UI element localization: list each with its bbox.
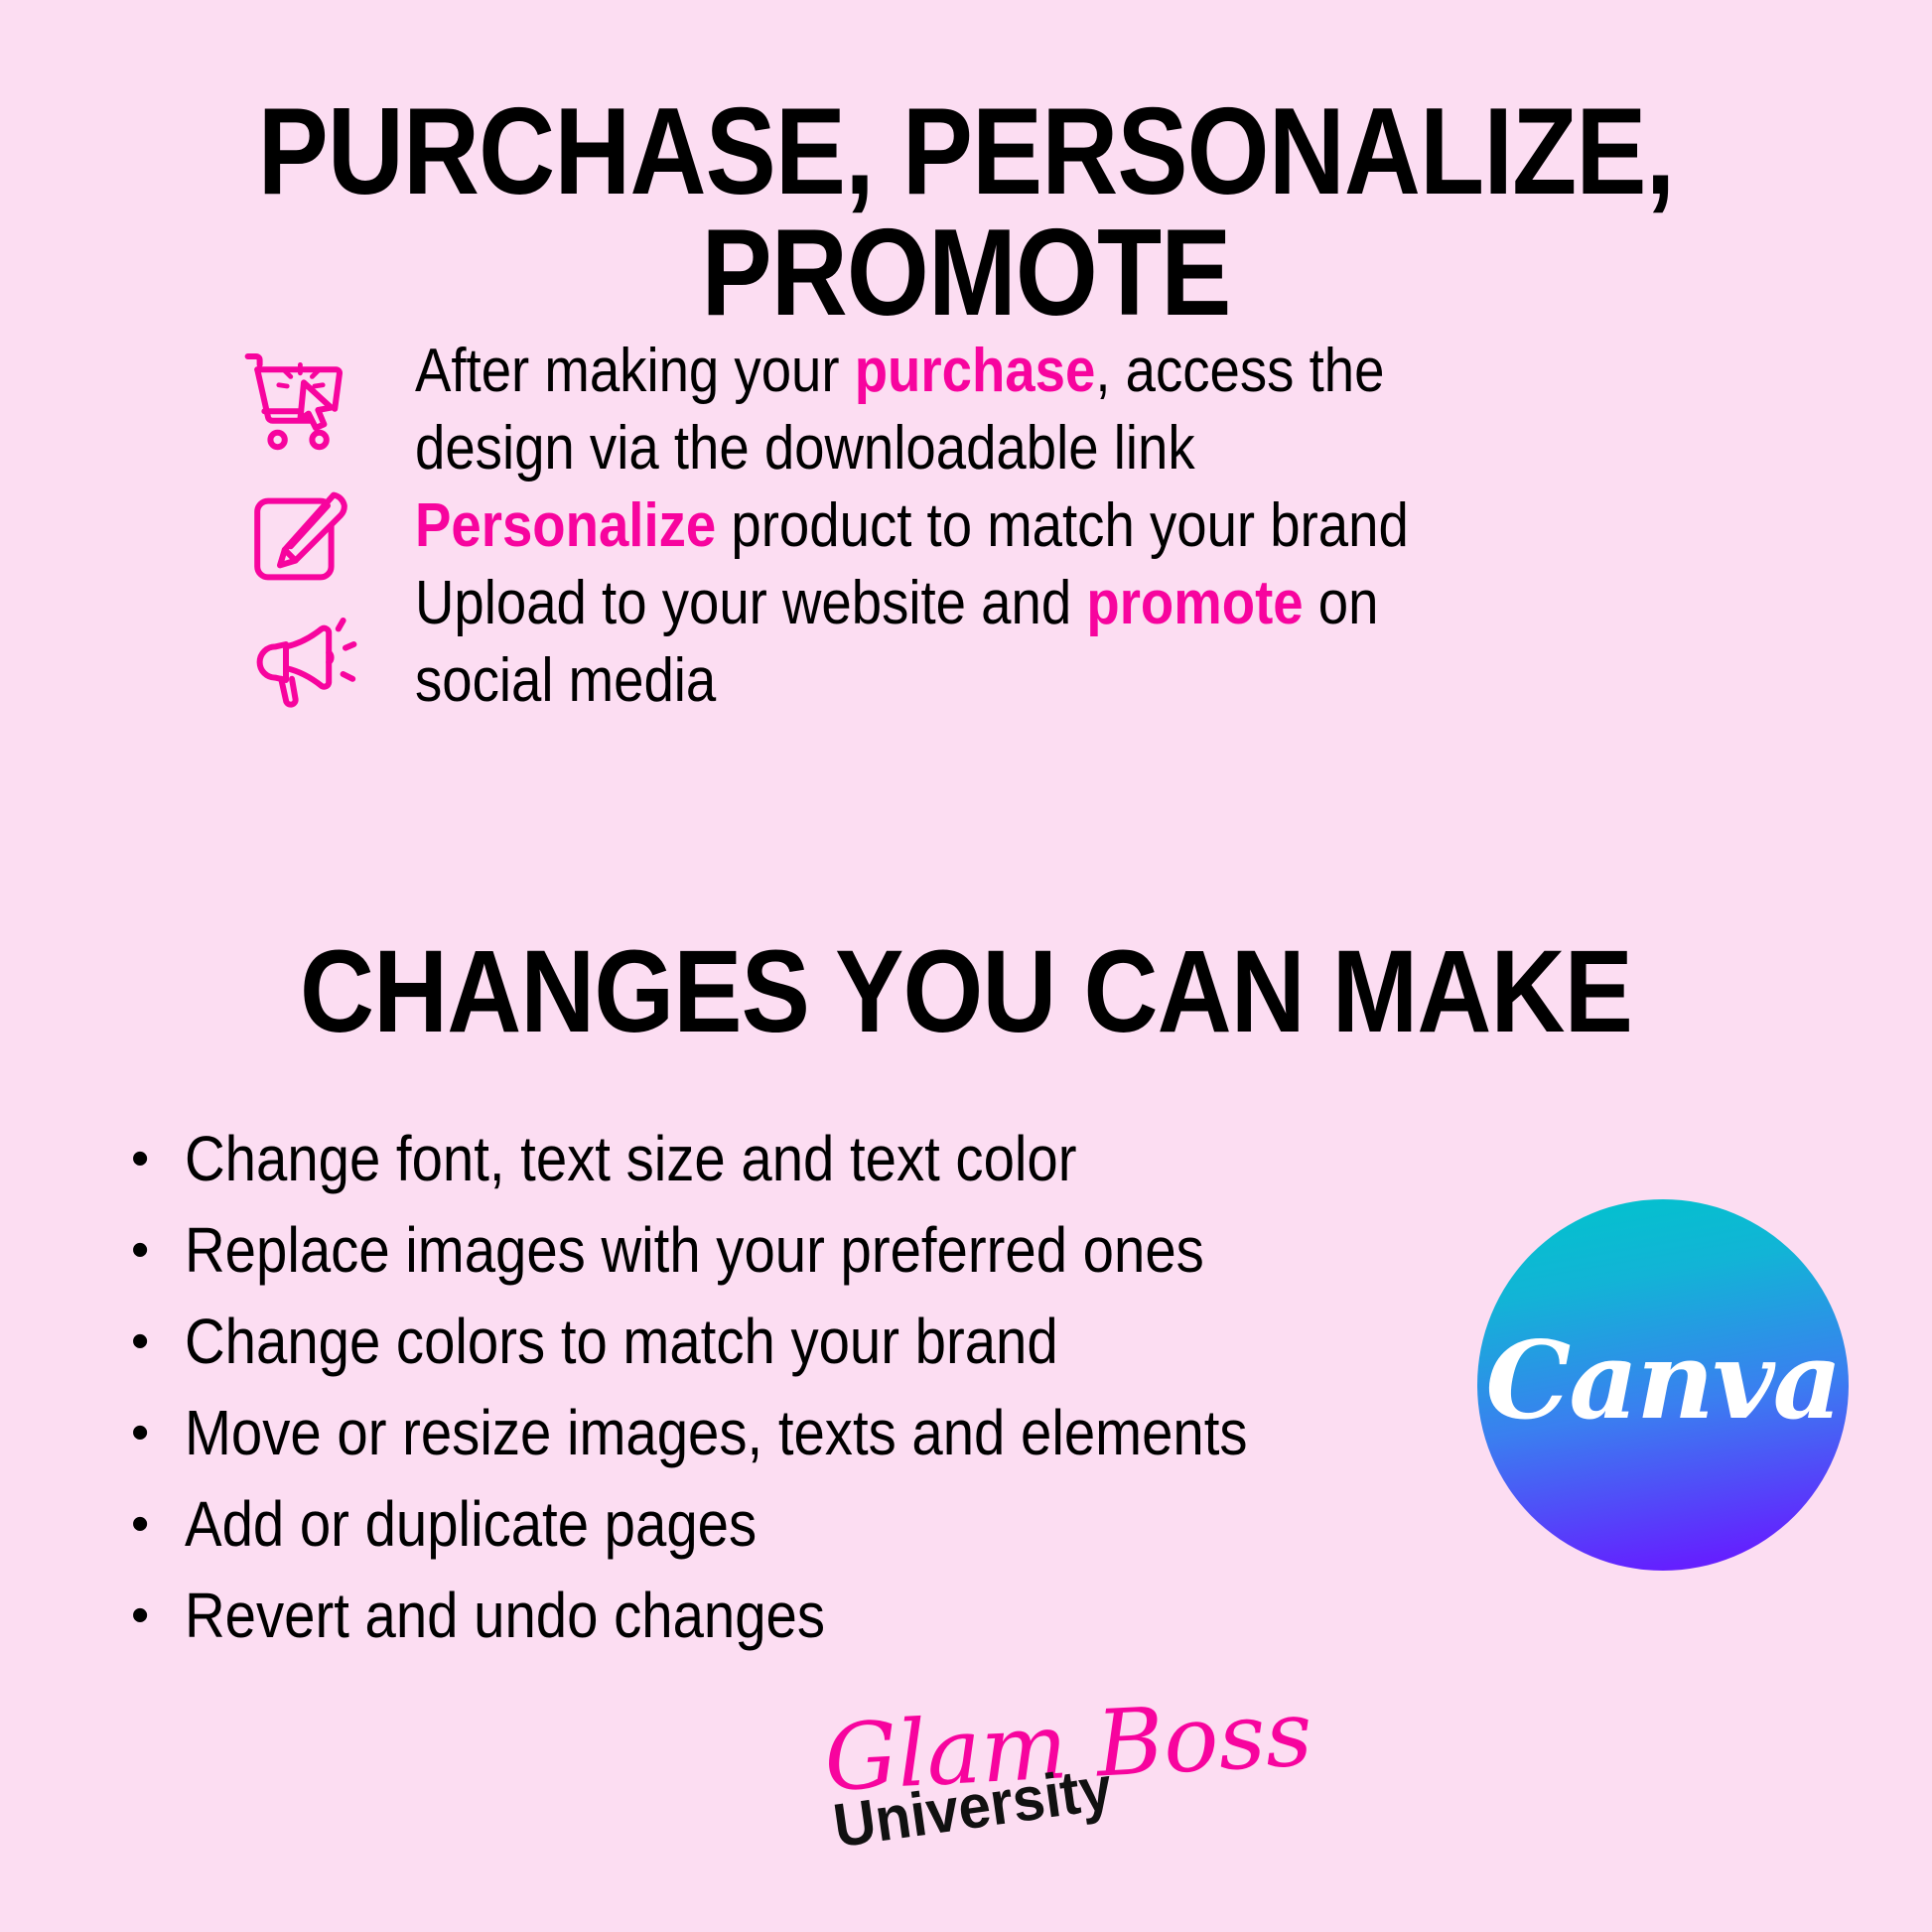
list-item: •Change colors to match your brand	[127, 1297, 1438, 1386]
list-item-label: Revert and undo changes	[185, 1571, 825, 1660]
step-line-1: After making your purchase, access the d…	[415, 333, 1463, 487]
bullet-glyph: •	[131, 1571, 149, 1660]
step-1-highlight: purchase	[855, 337, 1096, 405]
changes-list: •Change font, text size and text color •…	[127, 1114, 1438, 1662]
bullet-glyph: •	[131, 1205, 149, 1295]
canva-logo-badge: Canva	[1477, 1199, 1849, 1571]
bullet-glyph: •	[131, 1479, 149, 1569]
steps-text-block: After making your purchase, access the d…	[415, 333, 1463, 720]
step-2-post: product to match your brand	[716, 491, 1409, 560]
step-3-highlight: promote	[1086, 569, 1303, 637]
megaphone-icon	[238, 603, 357, 722]
pencil-square-edit-icon	[238, 480, 357, 599]
step-line-2: Personalize product to match your brand	[415, 487, 1463, 565]
bullet-glyph: •	[131, 1297, 149, 1386]
canva-wordmark: Canva	[1485, 1318, 1840, 1444]
page-title: PURCHASE, PERSONALIZE, PROMOTE	[135, 91, 1797, 334]
list-item: •Revert and undo changes	[127, 1571, 1438, 1660]
shopping-cart-click-icon	[238, 345, 357, 464]
list-item-label: Change colors to match your brand	[185, 1297, 1058, 1386]
list-item-label: Change font, text size and text color	[185, 1114, 1077, 1203]
step-3-pre: Upload to your website and	[415, 569, 1086, 637]
list-item: •Add or duplicate pages	[127, 1479, 1438, 1569]
step-1-pre: After making your	[415, 337, 855, 405]
list-item-label: Replace images with your preferred ones	[185, 1205, 1204, 1295]
step-2-highlight: Personalize	[415, 491, 716, 560]
poster-canvas: PURCHASE, PERSONALIZE, PROMOTE	[0, 0, 1932, 1932]
list-item-label: Add or duplicate pages	[185, 1479, 757, 1569]
section-title: CHANGES YOU CAN MAKE	[116, 933, 1816, 1050]
list-item: •Move or resize images, texts and elemen…	[127, 1388, 1438, 1477]
step-line-3: Upload to your website and promote on so…	[415, 565, 1463, 720]
bullet-glyph: •	[131, 1388, 149, 1477]
brand-logo: Glam Boss University	[822, 1712, 1110, 1900]
list-item: •Replace images with your preferred ones	[127, 1205, 1438, 1295]
bullet-glyph: •	[131, 1114, 149, 1203]
list-item-label: Move or resize images, texts and element…	[185, 1388, 1248, 1477]
list-item: •Change font, text size and text color	[127, 1114, 1438, 1203]
